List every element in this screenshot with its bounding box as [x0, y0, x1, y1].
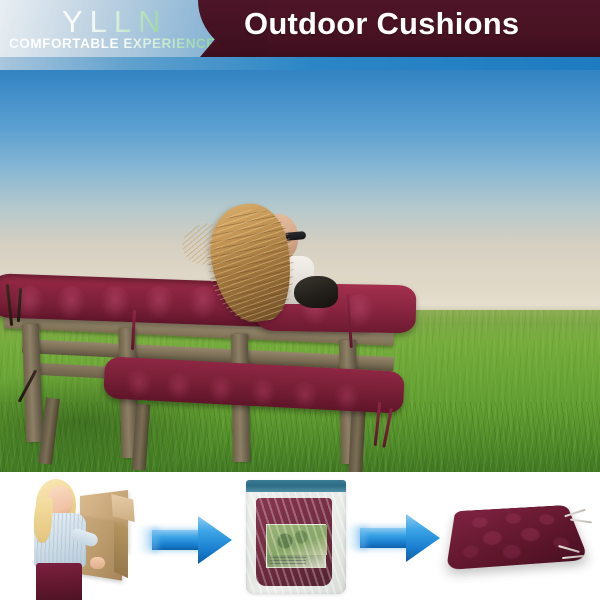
plastic-bag-zipper: [246, 480, 346, 492]
arrow-shaft: [360, 528, 412, 548]
seat-cushion-tuft: [166, 373, 192, 401]
seat-cushion-tuft: [208, 376, 234, 404]
plastic-bag-sheen: [246, 480, 346, 594]
woman-hand: [90, 557, 105, 569]
seat-cushion-tuft: [250, 379, 276, 407]
cardboard-box-edge: [114, 522, 128, 578]
arrow-head: [406, 514, 440, 562]
woman-skirt: [36, 563, 82, 600]
arrow-shaft: [152, 530, 204, 550]
seat-cushion-tuft: [334, 384, 360, 412]
process-arrow-icon: [152, 514, 232, 564]
brand-tagline-text: COMFORTABLE EXPERIENCE: [9, 36, 216, 51]
process-step-packaging: [244, 478, 348, 596]
header-banner: YLLN COMFORTABLE EXPERIENCE Outdoor Cush…: [0, 0, 600, 70]
brand-name-text: YLLN: [62, 4, 168, 40]
process-step-shipping: [14, 475, 142, 600]
brand-logo: YLLN COMFORTABLE EXPERIENCE: [0, 0, 230, 60]
hero-photo: [0, 62, 600, 472]
dog: [294, 276, 338, 308]
process-arrow-icon: [360, 512, 440, 562]
seat-cushion-tuft: [126, 370, 152, 398]
person-seated: [208, 200, 338, 324]
bench-leg: [348, 408, 365, 472]
page-title: Outdoor Cushions: [244, 6, 519, 42]
seat-cushion-tuft: [292, 382, 318, 410]
product-marketing-image: YLLN COMFORTABLE EXPERIENCE Outdoor Cush…: [0, 0, 600, 600]
process-panel: [0, 472, 600, 600]
process-step-product: [446, 486, 594, 586]
arrow-head: [198, 516, 232, 564]
